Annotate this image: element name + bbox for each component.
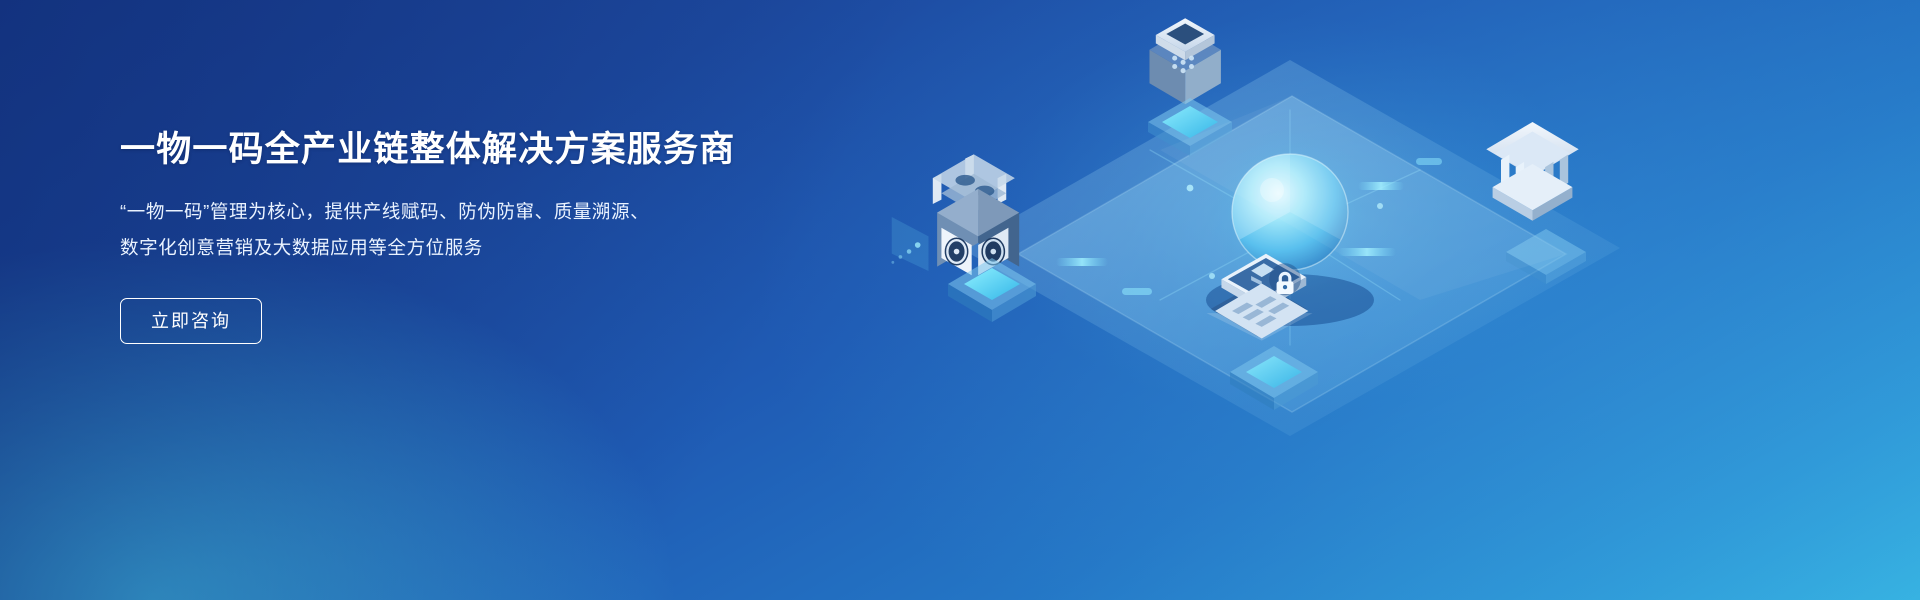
hero-subtitle: “一物一码”管理为核心，提供产线赋码、防伪防窜、质量溯源、 数字化创意营销及大数… (120, 194, 820, 266)
hero-subtitle-line-1: “一物一码”管理为核心，提供产线赋码、防伪防窜、质量溯源、 (120, 194, 820, 230)
server-fan-rack-icon (891, 154, 1019, 275)
hero-banner: 一物一码全产业链整体解决方案服务商 “一物一码”管理为核心，提供产线赋码、防伪防… (0, 0, 1920, 600)
hero-illustration (860, 0, 1920, 600)
lock-icon (1269, 263, 1301, 295)
hero-copy: 一物一码全产业链整体解决方案服务商 “一物一码”管理为核心，提供产线赋码、防伪防… (120, 128, 820, 344)
page-title: 一物一码全产业链整体解决方案服务商 (120, 128, 820, 172)
airflow-particles (891, 217, 928, 271)
hero-subtitle-line-2: 数字化创意营销及大数据应用等全方位服务 (120, 230, 820, 266)
consult-now-button[interactable]: 立即咨询 (120, 298, 262, 344)
